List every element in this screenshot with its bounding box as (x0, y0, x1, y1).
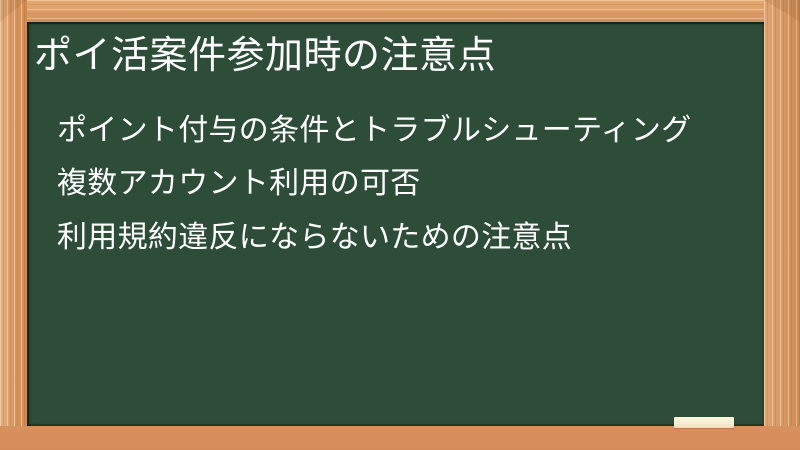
slide-title: ポイ活案件参加時の注意点 (34, 32, 496, 78)
chalk-tray (0, 426, 800, 450)
frame-rail-left (0, 0, 27, 450)
chalk-stick (674, 417, 734, 428)
slide-canvas: ポイ活案件参加時の注意点 ポイント付与の条件とトラブルシューティング 複数アカウ… (0, 0, 800, 450)
bullet-item-2: 複数アカウント利用の可否 (57, 157, 692, 210)
chalkboard-surface: ポイ活案件参加時の注意点 ポイント付与の条件とトラブルシューティング 複数アカウ… (27, 22, 764, 426)
frame-rail-right (764, 0, 800, 450)
bullet-item-3: 利用規約違反にならないための注意点 (57, 211, 692, 264)
slide-bullet-list: ポイント付与の条件とトラブルシューティング 複数アカウント利用の可否 利用規約違… (57, 104, 692, 264)
board-content: ポイ活案件参加時の注意点 ポイント付与の条件とトラブルシューティング 複数アカウ… (27, 22, 764, 426)
frame-rail-top (0, 0, 800, 22)
bullet-item-1: ポイント付与の条件とトラブルシューティング (57, 104, 692, 157)
